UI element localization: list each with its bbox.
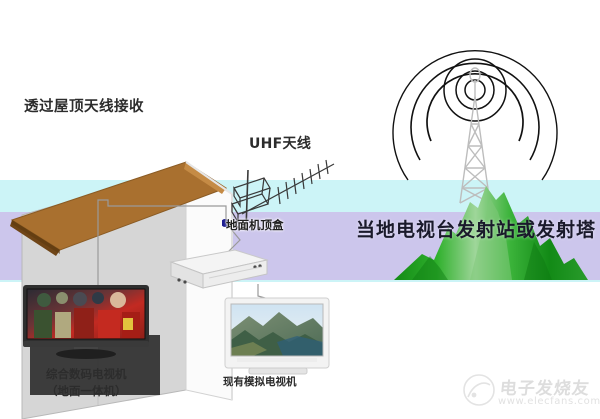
label-transmitter: 当地电视台发射站或发射塔 xyxy=(356,215,596,242)
watermark-url: www.elecfans.com xyxy=(498,396,600,407)
label-lcd-tv-line1: 综合数码电视机 xyxy=(46,366,127,382)
crt-television-icon xyxy=(223,296,333,382)
lcd-television-icon xyxy=(22,284,150,360)
label-lcd-tv-line2: （地面一体机） xyxy=(46,383,127,399)
diagram-canvas: 透过屋顶天线接收 UHF天线 地面机顶盒 当地电视台发射站或发射塔 综合数码电视… xyxy=(0,0,600,419)
label-set-top-box: 地面机顶盒 xyxy=(226,217,284,233)
label-crt-tv: 现有模拟电视机 xyxy=(223,374,297,389)
elecfans-logo-icon xyxy=(462,373,496,407)
watermark: 电子发烧友 www.elecfans.com xyxy=(462,372,596,416)
set-top-box-icon xyxy=(163,248,273,298)
label-uhf-antenna: UHF天线 xyxy=(249,133,311,153)
label-roof-reception: 透过屋顶天线接收 xyxy=(24,95,144,116)
